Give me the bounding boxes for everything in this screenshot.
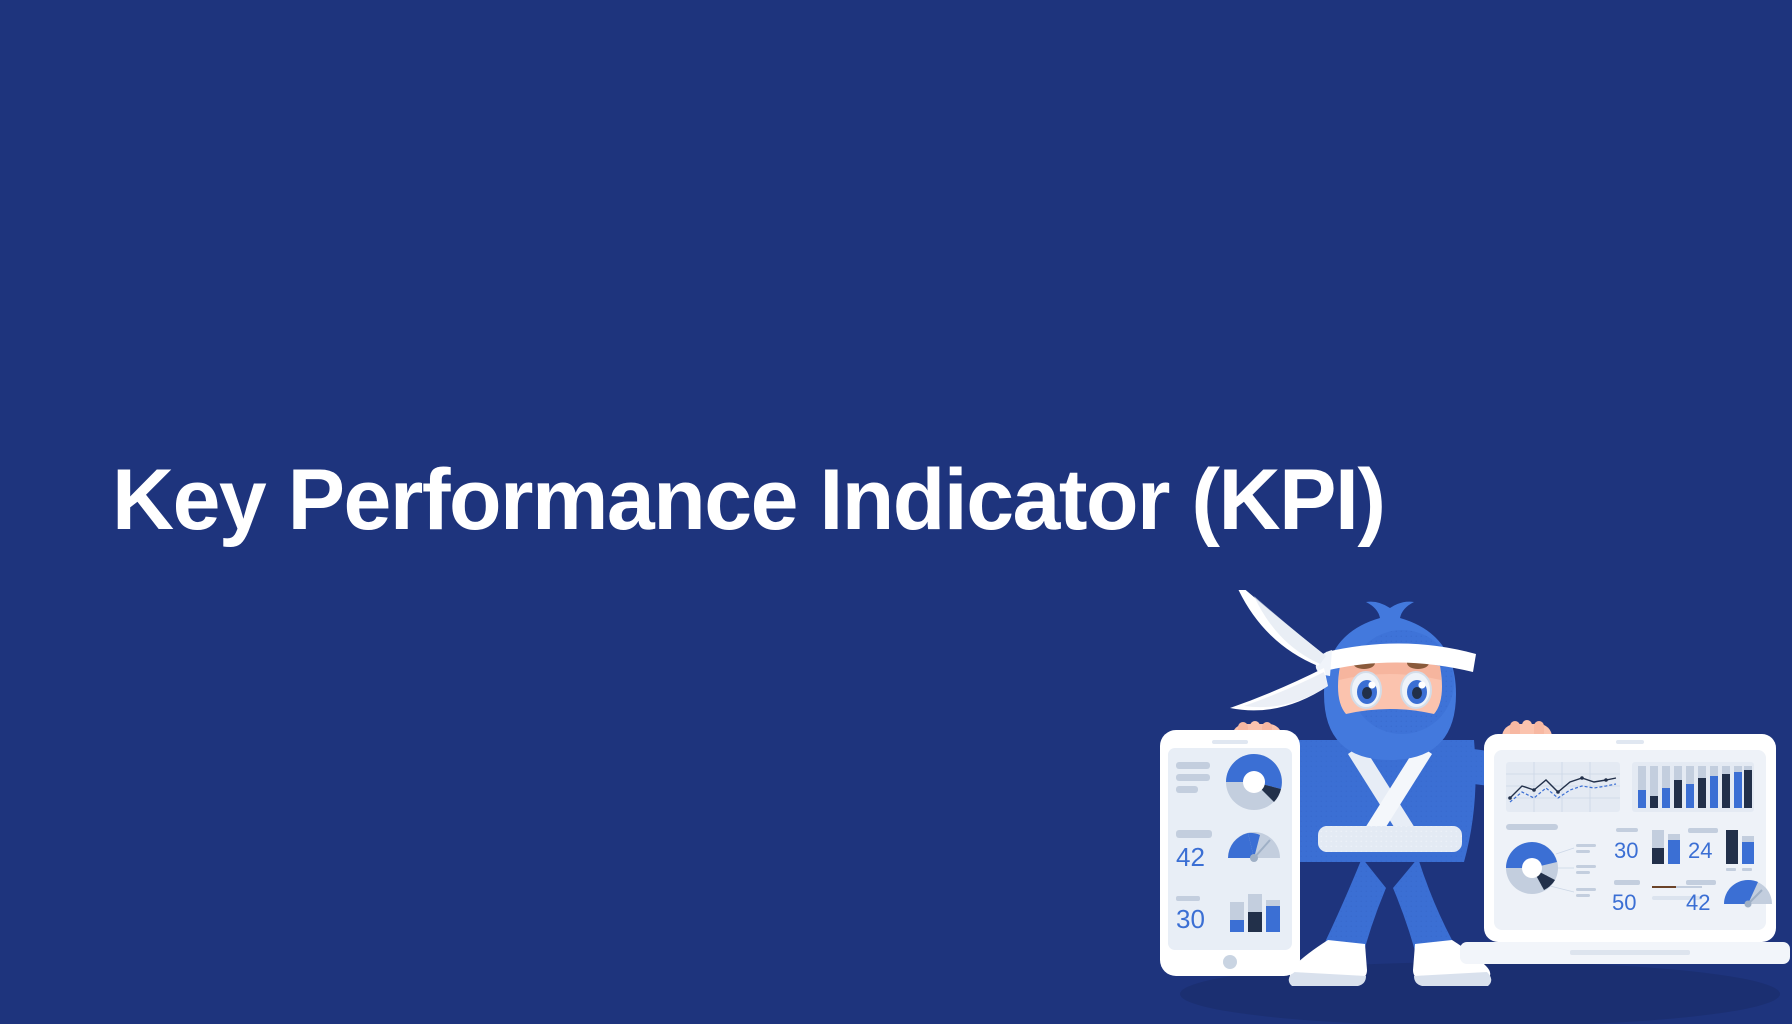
page-title: Key Performance Indicator (KPI) <box>112 455 1385 545</box>
kpi-banner: Key Performance Indicator (KPI) <box>0 0 1792 1024</box>
phone-bar-value: 30 <box>1176 904 1205 934</box>
smartphone-dashboard[interactable]: 42 30 <box>1160 730 1300 976</box>
laptop-kpi-30-value: 30 <box>1614 838 1638 863</box>
laptop-dashboard[interactable]: 30 24 <box>1460 734 1790 964</box>
laptop-trackpad-strip <box>1570 950 1690 955</box>
ninja-analyst-illustration: 42 30 <box>1150 590 1792 1024</box>
laptop-kpi-24-value: 24 <box>1688 838 1712 863</box>
laptop-kpi-42-value: 42 <box>1686 890 1710 915</box>
ninja-left-eye-pupil <box>1362 687 1372 699</box>
laptop-kpi-50-value: 50 <box>1612 890 1636 915</box>
laptop-line-chart <box>1506 762 1620 812</box>
phone-home-button[interactable] <box>1223 955 1237 969</box>
phone-speaker <box>1212 740 1248 744</box>
ninja-left-eye-highlight <box>1368 681 1375 688</box>
laptop-column-chart <box>1632 762 1754 812</box>
ninja-right-eye-pupil <box>1412 687 1422 699</box>
phone-gauge-value: 42 <box>1176 842 1205 872</box>
laptop-camera <box>1616 740 1644 744</box>
ninja-right-eye-highlight <box>1418 681 1425 688</box>
